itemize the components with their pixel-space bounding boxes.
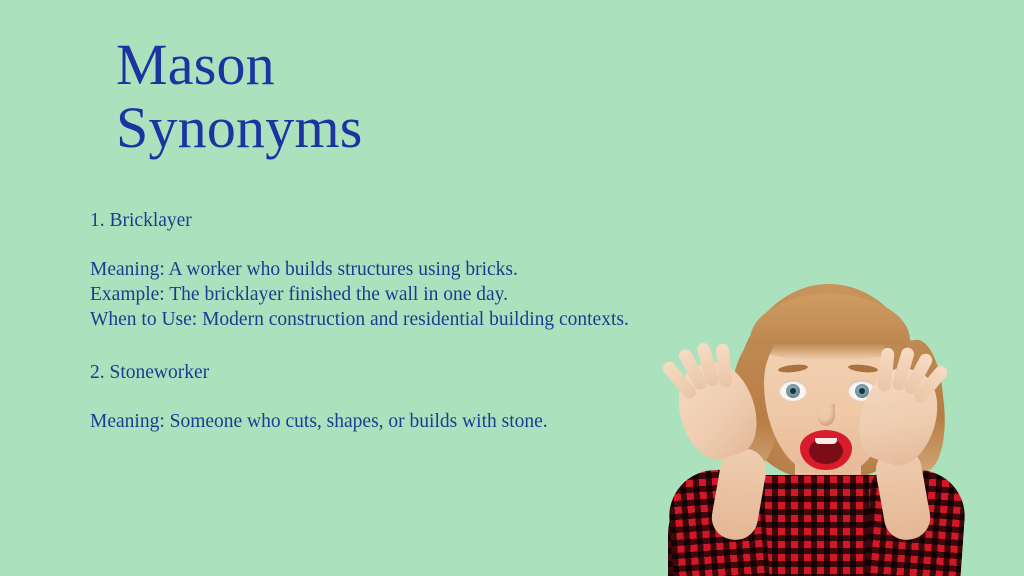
eye-left: [779, 380, 807, 401]
spacer: [90, 233, 665, 257]
pupil-right: [859, 388, 865, 394]
mouth-inner: [809, 438, 843, 464]
entry-1-line-2: Example: The bricklayer finished the wal…: [90, 282, 665, 307]
nose: [817, 404, 835, 426]
entry-heading-1: 1. Bricklayer: [90, 208, 665, 233]
title-line-2: Synonyms: [116, 97, 676, 160]
title-line-1: Mason: [116, 34, 676, 97]
surprised-woman-photo: [650, 270, 1024, 576]
entry-1-line-3: When to Use: Modern construction and res…: [90, 307, 665, 332]
page-title: Mason Synonyms: [116, 34, 676, 159]
entry-2-line-1: Meaning: Someone who cuts, shapes, or bu…: [90, 409, 665, 434]
teeth: [815, 438, 837, 444]
spacer: [90, 332, 665, 360]
pupil-left: [790, 388, 796, 394]
spacer: [90, 385, 665, 409]
body-content: 1. Bricklayer Meaning: A worker who buil…: [90, 208, 665, 434]
iris-left: [786, 384, 800, 398]
entry-heading-2: 2. Stoneworker: [90, 360, 665, 385]
slide-canvas: Mason Synonyms 1. Bricklayer Meaning: A …: [0, 0, 1024, 576]
entry-1-line-1: Meaning: A worker who builds structures …: [90, 257, 665, 282]
